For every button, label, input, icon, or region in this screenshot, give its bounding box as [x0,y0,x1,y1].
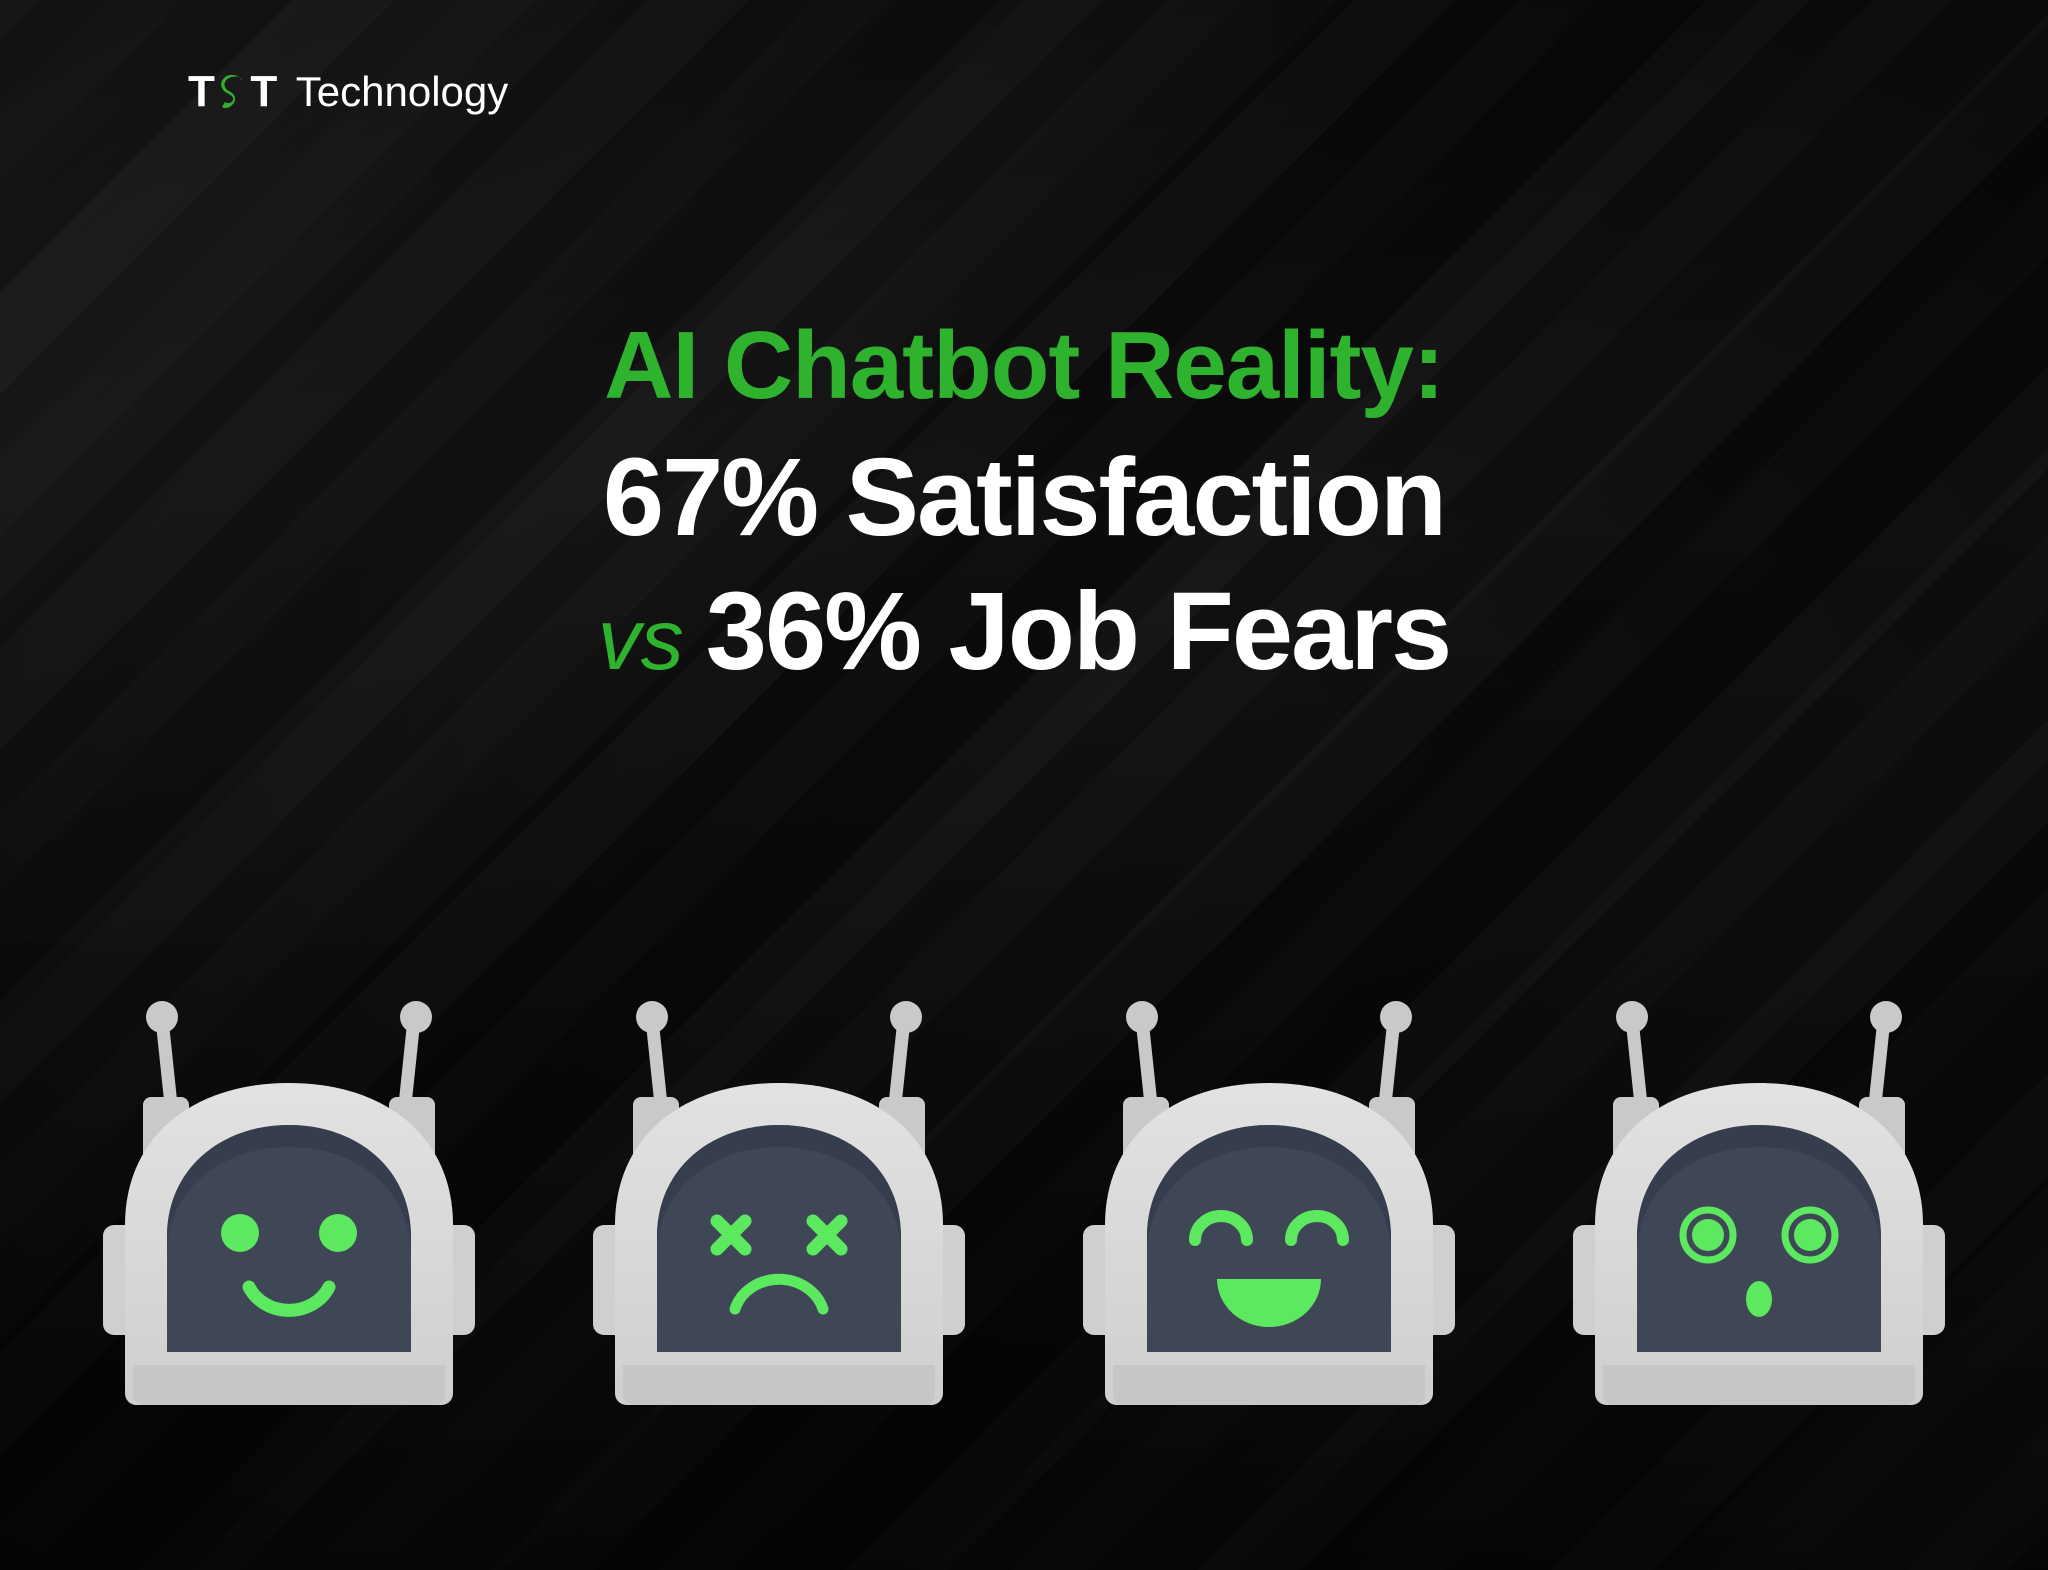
robot-row [0,985,2048,1405]
robot-sad [593,997,965,1405]
logo-letter-t-second: T [250,70,278,114]
headline-line-1: AI Chatbot Reality: [0,315,2048,417]
logo-s-icon [218,72,248,112]
logo-letter-t-first: T [188,70,216,114]
robot-eye-left [221,1214,259,1252]
robot-surprised [1573,997,1945,1405]
poster-canvas: T T Technology AI Chatbot Reality: 67% S… [0,0,2048,1570]
headline-line-2: 67% Satisfaction [0,433,2048,563]
headline-vs: vs [598,592,684,688]
robot-laughing [1083,997,1455,1405]
headline-block: AI Chatbot Reality: 67% Satisfaction vs3… [0,315,2048,696]
robot-mouth [1746,1281,1772,1317]
logo-wordmark: Technology [296,71,508,113]
headline-job-fears: 36% Job Fears [706,570,1450,693]
robot-eye-right [319,1214,357,1252]
brand-logo[interactable]: T T Technology [188,70,508,114]
headline-line-3: vs36% Job Fears [0,567,2048,697]
robot-happy [103,997,475,1405]
